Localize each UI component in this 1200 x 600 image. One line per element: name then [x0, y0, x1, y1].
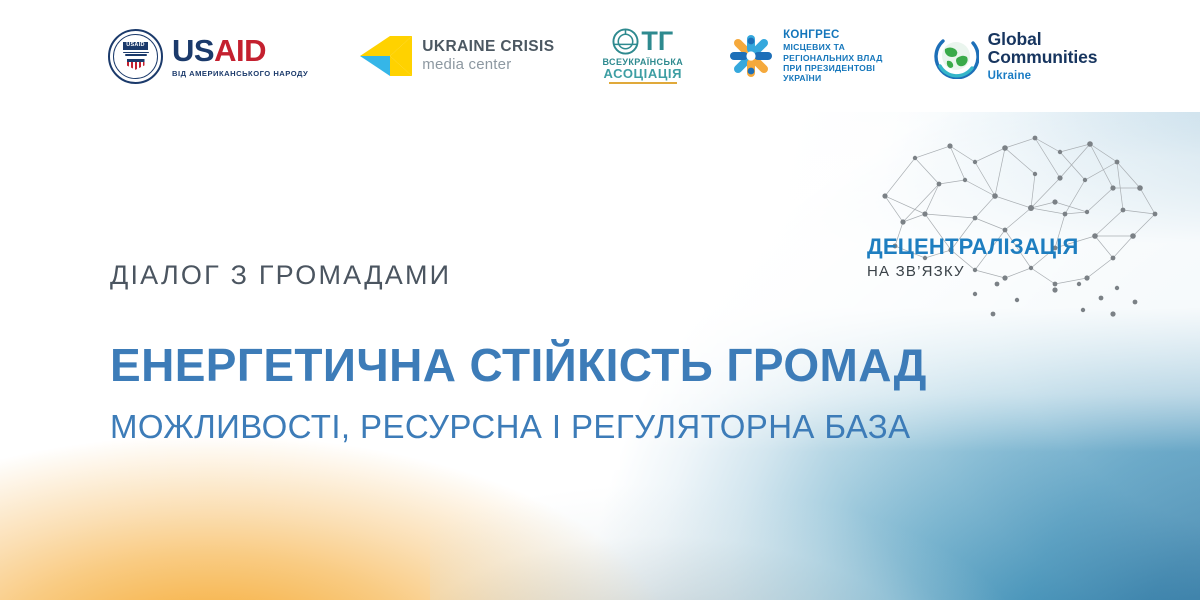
- usaid-wing-icon: [123, 51, 149, 58]
- logo-global-communities-ukraine: Global Communities Ukraine: [933, 30, 1098, 82]
- page-subtitle: МОЖЛИВОСТІ, РЕСУРСНА І РЕГУЛЯТОРНА БАЗА: [110, 410, 927, 443]
- otg-ring-icon: [612, 28, 639, 55]
- usaid-seal-icon: USAID: [108, 29, 163, 84]
- logo-congress-local-authorities: КОНГРЕС МІСЦЕВИХ ТА РЕГІОНАЛЬНИХ ВЛАД ПР…: [727, 28, 883, 84]
- usaid-shield-icon: [127, 59, 145, 70]
- congress-line1: КОНГРЕС: [783, 28, 883, 42]
- congress-line2: МІСЦЕВИХ ТА: [783, 42, 883, 52]
- global-communities-line1: Global: [988, 30, 1098, 49]
- eyebrow-text: ДІАЛОГ З ГРОМАДАМИ: [110, 262, 927, 289]
- ucmc-line1: UKRAINE CRISIS: [422, 38, 554, 56]
- usaid-seal-text: USAID: [123, 42, 148, 50]
- congress-line3: РЕГІОНАЛЬНИХ ВЛАД: [783, 53, 883, 63]
- congress-pinwheel-icon: [727, 32, 775, 80]
- usaid-word-aid: AID: [214, 33, 266, 68]
- ucmc-triangle-icon: [360, 34, 412, 78]
- ucmc-line2: media center: [422, 56, 554, 73]
- otg-letters: ТГ: [641, 28, 673, 55]
- otg-line2: АСОЦІАЦІЯ: [604, 67, 683, 81]
- headline-block: ДІАЛОГ З ГРОМАДАМИ ЕНЕРГЕТИЧНА СТІЙКІСТЬ…: [110, 262, 927, 443]
- logo-otg-association: ТГ ВСЕУКРАЇНСЬКА АСОЦІАЦІЯ: [603, 28, 684, 84]
- usaid-tagline: ВІД АМЕРИКАНСЬКОГО НАРОДУ: [172, 69, 308, 78]
- logo-usaid: USAID USAID ВІД АМЕРИКАНСЬКОГО НАРОДУ: [108, 29, 308, 84]
- page-title: ЕНЕРГЕТИЧНА СТІЙКІСТЬ ГРОМАД: [110, 342, 927, 388]
- logo-ukraine-crisis-media-center: UKRAINE CRISIS media center: [360, 34, 554, 78]
- partner-logo-strip: USAID USAID ВІД АМЕРИКАНСЬКОГО НАРОДУ: [0, 0, 1200, 112]
- promo-banner: USAID USAID ВІД АМЕРИКАНСЬКОГО НАРОДУ: [0, 0, 1200, 600]
- congress-line5: УКРАЇНИ: [783, 73, 883, 83]
- globe-icon: [933, 33, 979, 79]
- global-communities-line2: Communities: [988, 48, 1098, 67]
- usaid-word-us: US: [172, 33, 214, 68]
- otg-underline: [609, 82, 677, 84]
- decentralization-title: ДЕЦЕНТРАЛІЗАЦІЯ: [867, 236, 1079, 258]
- congress-line4: ПРИ ПРЕЗИДЕНТОВІ: [783, 63, 883, 73]
- global-communities-line3: Ukraine: [988, 70, 1098, 82]
